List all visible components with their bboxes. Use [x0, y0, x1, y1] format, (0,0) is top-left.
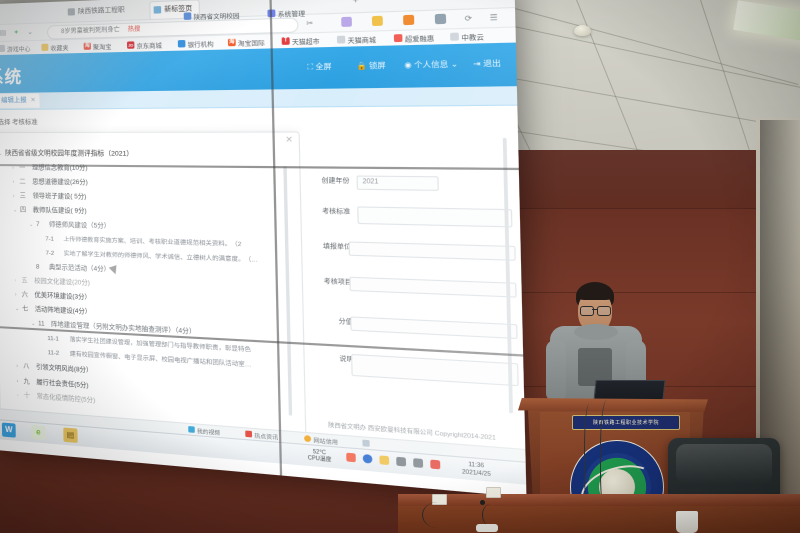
hood — [574, 324, 618, 340]
field-label: 说明 — [305, 351, 354, 364]
bookmark-label: 聚淘宝 — [93, 45, 112, 52]
close-icon[interactable]: ✕ — [30, 94, 35, 108]
app-tab-edit-report[interactable]: 编辑上报 ✕ — [0, 94, 40, 109]
form-row: 考核标准 — [301, 205, 514, 209]
taskbar-ie-icon[interactable]: e — [31, 425, 45, 440]
menu-icon[interactable]: ▤ — [0, 29, 6, 37]
tree-item-num: 九 — [23, 379, 36, 387]
form-row: 说明 — [305, 351, 519, 363]
form-row: 填报单位 — [302, 240, 515, 246]
paper-cup — [676, 511, 698, 533]
tray-browser-icon[interactable] — [363, 454, 373, 464]
tree-item-num: 11 — [38, 321, 51, 329]
taskbar-clock[interactable]: 11:36 2021/4/25 — [450, 460, 503, 479]
chevron-down-icon[interactable]: ⌄ — [27, 28, 33, 36]
microphone-arm — [422, 502, 453, 528]
form-row: 创建年份 2021 — [301, 175, 514, 177]
fullscreen-icon: ⛶ — [307, 64, 313, 72]
tree-item-num: 7-2 — [46, 251, 64, 258]
tray-volume-icon[interactable] — [396, 457, 406, 467]
bookmark-icon: 淘 — [228, 39, 236, 47]
field-label: 填报单位 — [302, 240, 351, 251]
created-year-field[interactable]: 2021 — [356, 175, 438, 190]
nav-profile[interactable]: ◉ 个人信息 ⌄ — [404, 59, 458, 71]
tree-item-label: 落实学生社团建设管理，加强管理部门与指导教师职责，彰显特色 — [69, 337, 251, 354]
bookmark-label: 超爱融惠 — [405, 37, 434, 44]
address-bar-value: 8岁男童被判死刑身亡 — [61, 27, 120, 35]
hamburger-icon[interactable]: ☰ — [490, 13, 498, 22]
nav-lockscreen[interactable]: 🔒 锁屏 — [356, 60, 386, 72]
bookmark-label: 中教云 — [461, 35, 484, 42]
tree-item[interactable]: ⌄11阵地建设管理（另附文明办实地抽查测评）（4分） — [31, 321, 196, 337]
tree-item-label: 实地了解学生对教师的师德师风、学术诚信、立德树人的满意度。（… — [64, 251, 258, 264]
tree-item-label: 引领文明风尚(8分） — [36, 364, 93, 375]
shield-icon[interactable] — [372, 16, 383, 26]
shield-icon — [362, 440, 369, 447]
tree-item-num: 11-1 — [47, 336, 69, 344]
tree-item[interactable]: ›八引领文明风尚(8分） — [16, 363, 92, 375]
tree-item-num: 一 — [19, 165, 32, 172]
tree-item-num: 五 — [21, 278, 34, 286]
tree-item-num: 六 — [22, 292, 35, 300]
glasses-lens-left — [580, 306, 594, 316]
taskbar-wps-icon[interactable]: W — [2, 422, 16, 437]
link-icon — [184, 12, 192, 20]
bookmark-icon: T — [282, 37, 290, 45]
tree-item-label: 优美环境建设(3分） — [34, 292, 91, 302]
field-label: 分值 — [304, 314, 353, 326]
app-title: 理系统 — [0, 63, 22, 89]
nav-label: 个人信息 — [414, 61, 449, 70]
tree-item-label: 阵地建设管理（另附文明办实地抽查测评）（4分） — [51, 321, 196, 336]
tree-item[interactable]: 8典型示范活动（4分） — [36, 264, 110, 274]
tree-item[interactable]: ›一理想信念教育(10分) — [12, 165, 87, 173]
tree-item[interactable]: ›六优美环境建设(3分） — [15, 292, 91, 302]
bookmark-label: 银行机构 — [188, 42, 214, 49]
tree-item[interactable]: ⌄四教师队伍建设( 9分) — [13, 207, 87, 216]
bolt-icon[interactable]: ✦ — [13, 28, 19, 36]
tree-item[interactable]: 7-1上传师德教育实施方案、培训、考核职业道德规范相关资料。（2 — [45, 236, 241, 248]
smoke-detector-icon — [574, 25, 591, 36]
field-label: 考核项目 — [303, 275, 352, 287]
form-panel: 创建年份 2021 考核标准 填报单位 考核项目 — [300, 131, 521, 451]
page-link-sysadmin[interactable]: 系统管理 — [267, 8, 305, 19]
tab-favicon — [154, 6, 162, 14]
tree-item[interactable]: ›十常态化疫情防控(5分) — [17, 393, 96, 406]
tree-root[interactable]: ⌄陕西省省级文明校园年度测评指标（2021） — [0, 150, 133, 158]
bookmark-label: 天猫超市 — [292, 40, 320, 47]
photo-scene: 陕西铁路工程职 新标签页 + － □ ✕ ▤ ✦ ⌄ 🔍 — [0, 0, 800, 533]
tree-item-num: 7-1 — [45, 236, 63, 243]
tree-item-label: 师德师风建设（5分） — [49, 221, 110, 230]
tree-item[interactable]: ›三领导班子建设( 5分) — [13, 193, 87, 201]
tree-item-num: 二 — [19, 179, 32, 186]
bookmark-item[interactable]: 天猫商城 — [337, 35, 376, 46]
bookmark-icon — [0, 45, 5, 52]
cpu-temp-indicator[interactable]: 52°C CPU温度 — [300, 448, 340, 464]
apps-grid-icon[interactable] — [435, 14, 446, 24]
tree-item[interactable]: ›二思想道德建设(26分) — [13, 179, 88, 187]
minimize-button[interactable]: － — [424, 0, 434, 3]
hot-badge: 热搜 — [128, 27, 141, 34]
credit-icon — [304, 435, 311, 442]
assessment-project-field[interactable] — [349, 277, 516, 298]
bookmark-icon: 淘 — [84, 43, 91, 50]
glasses-lens-right — [597, 306, 611, 316]
breadcrumb: 选择 考核标准 — [0, 116, 38, 126]
bookmark-label: 淘宝国际 — [238, 41, 265, 48]
app-tab-label: 编辑上报 — [1, 97, 27, 104]
description-field[interactable] — [351, 354, 519, 386]
form-row: 分值 — [304, 314, 518, 324]
tree-item-num: 十 — [24, 393, 37, 401]
lock-icon: 🔒 — [356, 63, 366, 71]
bookmark-icon — [178, 40, 186, 48]
bookmark-item[interactable]: JD 京东商城 — [127, 41, 162, 51]
tree-item-label: 上传师德教育实施方案、培训、考核职业道德规范相关资料。（2 — [63, 237, 241, 248]
field-value: 2021 — [362, 179, 378, 186]
field-label: 创建年份 — [301, 175, 350, 185]
microphone-base — [476, 524, 498, 532]
bookmark-label: 京东商城 — [136, 44, 162, 51]
hair-fringe — [577, 286, 613, 300]
tree-item-num: 7 — [36, 222, 49, 229]
close-icon[interactable]: ✕ — [285, 135, 293, 145]
bookmark-label: 游戏中心 — [7, 47, 31, 54]
desk-top-surface — [398, 494, 800, 506]
tray-network-icon[interactable] — [413, 458, 423, 468]
tree-item-label: 常态化疫情防控(5分) — [37, 393, 96, 404]
clipboard-icon[interactable] — [341, 17, 352, 27]
bookmark-item[interactable]: 银行机构 — [178, 39, 214, 49]
nav-label: 锁屏 — [369, 62, 386, 70]
tree-item-label: 校园文化建设(20分) — [34, 278, 90, 287]
screen-content[interactable]: 陕西铁路工程职 新标签页 + － □ ✕ ▤ ✦ ⌄ 🔍 — [0, 0, 526, 497]
glasses-bridge — [592, 309, 597, 310]
tree-root-label: 陕西省省级文明校园年度测评指标（2021） — [5, 150, 133, 158]
nav-label: 全屏 — [315, 63, 331, 71]
tree-item-label: 履行社会责任(5分) — [36, 379, 88, 390]
bookmark-icon: JD — [127, 41, 134, 48]
tree-item-label: 理想信念教育(10分) — [32, 164, 88, 172]
tree-item-num: 八 — [23, 364, 36, 372]
link-icon — [267, 9, 275, 17]
new-tab-button[interactable]: + — [352, 0, 358, 6]
tray-shield-icon[interactable] — [346, 453, 356, 463]
microphone-arm-2 — [482, 504, 499, 526]
bookmark-item[interactable]: 游戏中心 — [0, 44, 31, 54]
assessment-standard-field[interactable] — [357, 206, 512, 227]
tree-item-num: 11-2 — [48, 350, 70, 358]
browser-tab-0[interactable]: 陕西铁路工程职 — [65, 2, 132, 21]
tree-item[interactable]: ›五校园文化建设(20分) — [15, 278, 91, 288]
reporting-unit-field[interactable] — [349, 241, 516, 260]
video-icon — [188, 426, 195, 433]
exit-icon: ⇥ — [473, 60, 481, 68]
folder-icon — [41, 44, 48, 51]
tray-security-icon[interactable] — [379, 455, 389, 465]
bookmark-item[interactable]: 中教云 — [450, 32, 484, 43]
chair-highlight — [676, 444, 772, 484]
news-icon — [245, 430, 252, 437]
arm-left — [546, 340, 566, 402]
video-wall-display[interactable]: 陕西铁路工程职 新标签页 + － □ ✕ ▤ ✦ ⌄ 🔍 — [0, 0, 526, 497]
browser-tab-label: 陕西铁路工程职 — [78, 6, 125, 15]
cut-icon[interactable]: ✂ — [306, 19, 313, 28]
tree-item-num: 四 — [20, 208, 33, 215]
tree-item-num: 8 — [36, 264, 49, 271]
tree-item-label: 建有校园宣传橱窗、电子显示屏、校园电视广播站和团队活动室… — [70, 351, 252, 368]
bookmark-icon — [394, 34, 403, 42]
microphone-head — [480, 500, 485, 505]
field-label: 考核标准 — [301, 205, 350, 216]
bookmark-icon — [450, 33, 459, 41]
tree-item[interactable]: ⌄七活动阵地建设(4分） — [15, 306, 91, 317]
score-field[interactable] — [350, 316, 517, 339]
bookmark-item[interactable]: 收藏夹 — [41, 43, 68, 53]
bookmark-icon — [337, 36, 345, 44]
tree-item-label: 领导班子建设( 5分) — [32, 193, 86, 201]
bookmark-item[interactable]: T 天猫超市 — [282, 36, 320, 47]
page-link-label: 系统管理 — [278, 12, 306, 19]
tree-item-num: 七 — [22, 306, 35, 314]
power-outlet-2 — [486, 487, 501, 498]
bookmark-item[interactable]: 超爱融惠 — [394, 33, 434, 44]
glasses — [580, 306, 612, 316]
tree-item[interactable]: 7-2实地了解学生对教师的师德师风、学术诚信、立德树人的满意度。（… — [46, 251, 258, 265]
nav-logout[interactable]: ⇥ 退出 — [473, 58, 501, 70]
tree-item-label: 典型示范活动（4分） — [49, 264, 110, 273]
tab-favicon — [68, 8, 75, 15]
tree-item-label: 思想道德建设(26分) — [32, 178, 88, 186]
form-row: 考核项目 — [303, 275, 517, 283]
mask-icon[interactable] — [403, 15, 414, 25]
tree-item-num: 三 — [20, 193, 33, 200]
tree-item-label: 活动阵地建设(4分） — [35, 306, 92, 316]
tree-item-label: 教师队伍建设( 9分) — [33, 207, 87, 215]
status-shield[interactable] — [362, 440, 372, 441]
taskbar-folder-icon[interactable]: ▤ — [63, 427, 77, 443]
tree-item[interactable]: ›九履行社会责任(5分) — [17, 378, 89, 390]
indicator-tree[interactable]: ⌄陕西省省级文明校园年度测评指标（2021） ›一理想信念教育(10分) ›二思… — [0, 150, 302, 428]
tray-input-icon[interactable] — [430, 460, 440, 470]
bookmark-label: 天猫商城 — [348, 38, 377, 45]
refresh-icon[interactable]: ⟳ — [465, 14, 473, 23]
page-link-shaanxi[interactable]: 陕西省文明校园 — [184, 11, 240, 22]
bookmark-item[interactable]: 淘 淘宝国际 — [228, 38, 265, 49]
bookmark-label: 收藏夹 — [50, 46, 68, 53]
tree-item[interactable]: ⌄7师德师风建设（5分） — [29, 222, 110, 231]
user-icon: ◉ — [404, 62, 412, 70]
chevron-down-icon: ⌄ — [451, 61, 458, 69]
nav-fullscreen[interactable]: ⛶ 全屏 — [307, 61, 331, 72]
bookmark-item[interactable]: 淘 聚淘宝 — [84, 42, 112, 52]
nav-label: 退出 — [483, 60, 501, 68]
